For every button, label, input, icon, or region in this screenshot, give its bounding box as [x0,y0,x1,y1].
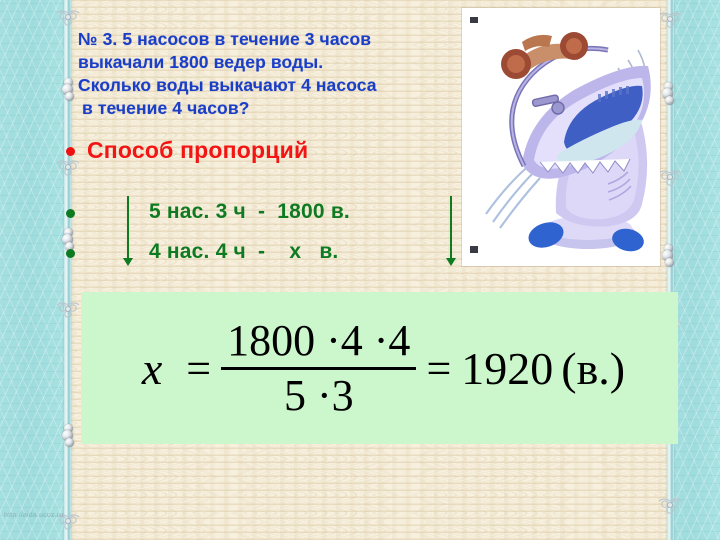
bullet-dot-icon [66,249,75,258]
proportion-line-1: 5 нас. 3 ч - 1800 в. [149,200,350,223]
formula-equals-1: = [186,343,211,394]
proportion-line-2: 4 нас. 4 ч - х в. [149,240,338,263]
band-rail-left [64,0,71,540]
problem-line-2: выкачали 1800 ведер воды. [78,51,448,74]
proportion-bullet-row-2: 4 нас. 4 ч - х в. [66,240,338,263]
problem-line-4: в течение 4 часов? [78,97,448,120]
method-label: Способ пропорций [87,138,308,163]
formula-panel: x = 1800 ·4 ·4 5 ·3 = 1920 (в.) [81,292,678,444]
bullet-dot-icon [66,209,75,218]
formula-numerator: 1800 ·4 ·4 [221,319,416,367]
water-pump-illustration-graphic [462,8,660,266]
arrow-down-right-icon [444,196,458,268]
slide-canvas: № 3. 5 насосов в течение 3 часов выкачал… [0,0,720,540]
formula-equals-2: = [426,343,451,394]
formula-denominator: 5 ·3 [278,370,360,418]
water-pump-illustration [462,8,660,266]
problem-line-1: № 3. 5 насосов в течение 3 часов [78,28,448,51]
decorative-band-right [670,0,720,540]
arrow-down-left-icon [121,196,135,268]
method-bullet-row: Способ пропорций [66,138,308,163]
formula-result: 1920 [461,342,553,395]
formula-result-unit: (в.) [561,342,625,395]
proportion-bullet-row-1: 5 нас. 3 ч - 1800 в. [66,200,350,223]
problem-statement: № 3. 5 насосов в течение 3 часов выкачал… [78,28,448,120]
formula-expression: x = 1800 ·4 ·4 5 ·3 = 1920 (в.) [81,319,678,418]
band-rail-right [667,0,674,540]
decorative-band-left [0,0,68,540]
bullet-dot-icon [66,147,75,156]
problem-line-3: Сколько воды выкачают 4 насоса [78,74,448,97]
formula-variable: x [142,342,162,395]
formula-fraction: 1800 ·4 ·4 5 ·3 [221,319,416,418]
watermark-url: http://aida.ucoz.ru [4,512,63,519]
